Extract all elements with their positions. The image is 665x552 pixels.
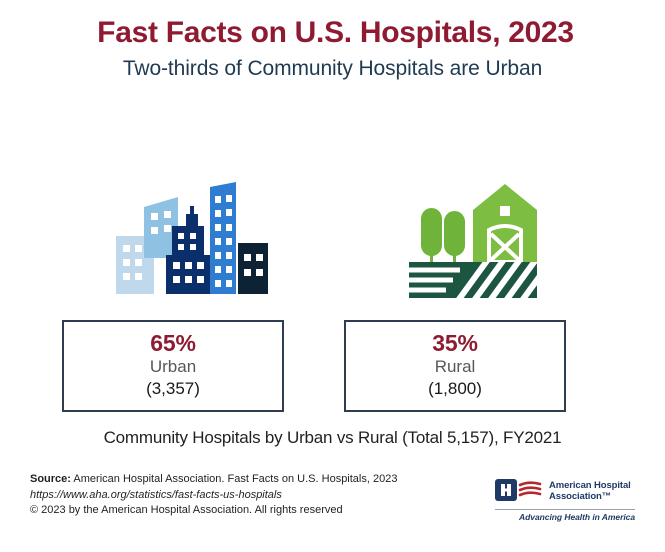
chart-caption: Community Hospitals by Urban vs Rural (T… [0,428,665,448]
source-url[interactable]: https://www.aha.org/statistics/fast-fact… [30,488,500,504]
logo-wordmark-line1: American Hospital [549,480,631,491]
stat-box-rural: 35% Rural (1,800) [344,320,566,412]
copyright-line: © 2023 by the American Hospital Associat… [30,503,500,519]
source-label: Source: [30,473,71,485]
stat-box-urban: 65% Urban (3,357) [62,320,284,412]
logo-wordmark-line2: Association™ [549,491,631,502]
city-skyline-icon [110,180,270,298]
stat-label-rural: Rural [346,356,564,377]
page-title: Fast Facts on U.S. Hospitals, 2023 [0,16,665,49]
stat-percent-urban: 65% [64,331,282,355]
source-text: American Hospital Association. Fast Fact… [73,473,397,485]
logo-top-row: American Hospital Association™ [495,476,635,506]
stat-count-rural: (1,800) [346,378,564,399]
logo-wordmark: American Hospital Association™ [549,480,631,502]
page-subtitle: Two-thirds of Community Hospitals are Ur… [0,57,665,81]
aha-logo: American Hospital Association™ Advancing… [495,476,635,528]
infographic-page: Fast Facts on U.S. Hospitals, 2023 Two-t… [0,0,665,552]
stat-label-urban: Urban [64,356,282,377]
farm-barn-icon [405,180,545,298]
rural-icon-slot [335,180,615,310]
header: Fast Facts on U.S. Hospitals, 2023 Two-t… [0,0,665,81]
logo-divider [495,509,635,510]
source-line: Source: American Hospital Association. F… [30,472,500,488]
stat-percent-rural: 35% [346,331,564,355]
source-block: Source: American Hospital Association. F… [30,472,500,519]
stat-count-urban: (3,357) [64,378,282,399]
urban-icon-slot [50,180,330,310]
stat-boxes: 65% Urban (3,357) 35% Rural (1,800) [0,320,665,416]
aha-mark-icon [495,477,543,505]
icon-band [0,180,665,310]
footer: Source: American Hospital Association. F… [30,472,635,542]
logo-tagline: Advancing Health in America [495,512,635,522]
